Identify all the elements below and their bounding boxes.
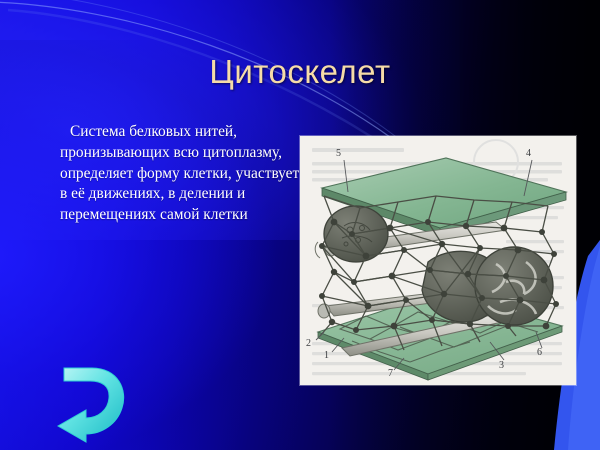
cytoskeleton-illustration: 5 4 2 1 7 3 6	[300, 136, 576, 385]
curved-back-arrow-icon[interactable]	[48, 360, 130, 444]
figure-label-5: 5	[336, 148, 341, 159]
presentation-slide: Цитоскелет Система белковых нитей, прони…	[0, 0, 600, 450]
page-title: Цитоскелет	[0, 53, 600, 91]
figure-label-7: 7	[388, 368, 393, 379]
figure-label-6: 6	[537, 347, 542, 358]
slide-body-text: Система белковых нитей, пронизывающих вс…	[60, 122, 305, 226]
figure-label-2: 2	[306, 338, 311, 349]
cytoskeleton-figure: 5 4 2 1 7 3 6	[300, 136, 576, 385]
figure-label-1: 1	[324, 350, 329, 361]
figure-label-3: 3	[499, 360, 504, 371]
figure-label-4: 4	[526, 148, 531, 159]
